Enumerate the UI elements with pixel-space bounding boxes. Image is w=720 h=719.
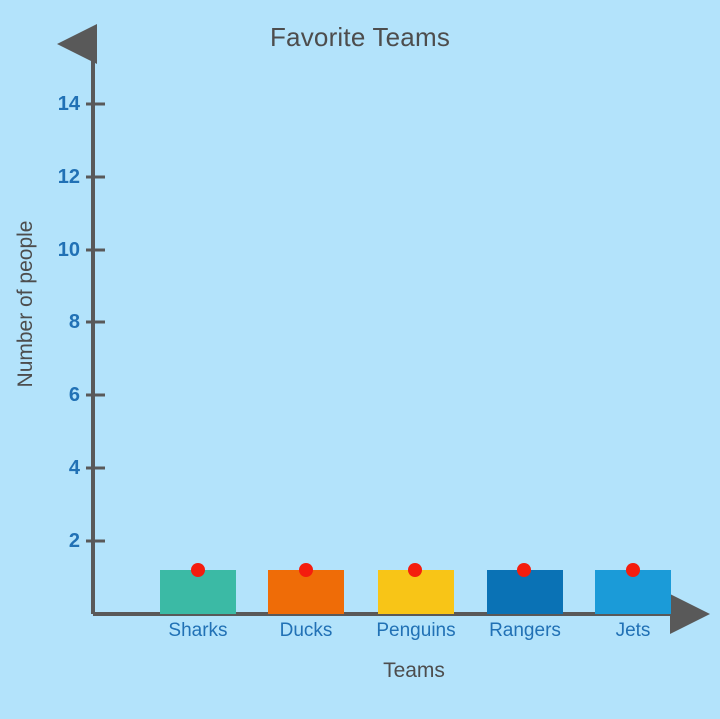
- category-label-penguins: Penguins: [356, 620, 476, 642]
- marker-dot-penguins: [408, 563, 422, 577]
- marker-dot-ducks: [299, 563, 313, 577]
- x-axis-label: Teams: [254, 659, 574, 683]
- category-label-jets: Jets: [573, 620, 693, 642]
- marker-dot-rangers: [517, 563, 531, 577]
- bar-chart: Favorite Teams Number of people 14 12 10…: [0, 0, 720, 719]
- bar-group: [0, 0, 720, 719]
- category-label-rangers: Rangers: [465, 620, 585, 642]
- category-label-sharks: Sharks: [138, 620, 258, 642]
- marker-dot-jets: [626, 563, 640, 577]
- marker-dot-sharks: [191, 563, 205, 577]
- category-label-ducks: Ducks: [246, 620, 366, 642]
